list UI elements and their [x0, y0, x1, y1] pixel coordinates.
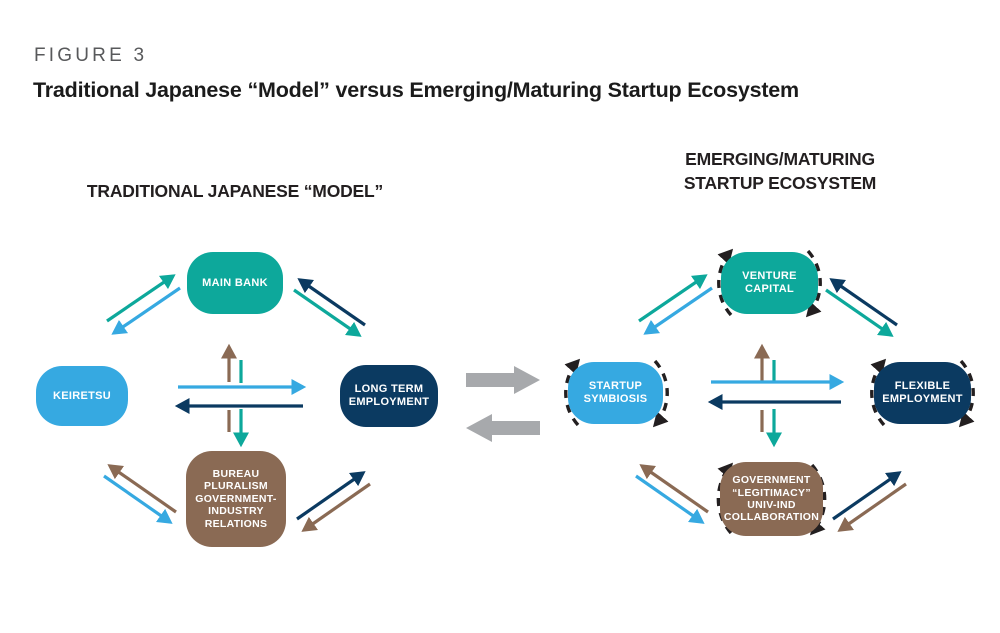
node-venture-capital[interactable]: VENTURECAPITAL [721, 252, 818, 314]
right-center-vertical-up [762, 347, 774, 383]
left-diagonal-bottomright [297, 473, 370, 530]
node-bureau-pluralism[interactable]: BUREAUPLURALISMGOVERNMENT-INDUSTRYRELATI… [186, 451, 286, 547]
right-diagonal-topright [826, 280, 897, 335]
page-title: Traditional Japanese “Model” versus Emer… [33, 78, 799, 103]
left-diagonal-topright [294, 280, 365, 335]
left-center-vertical-down [229, 409, 241, 444]
panel-heading-left: TRADITIONAL JAPANESE “MODEL” [40, 180, 430, 204]
panel-heading-right: EMERGING/MATURINGSTARTUP ECOSYSTEM [620, 148, 940, 195]
right-diagonal-bottomright [833, 473, 906, 530]
node-long-term-employment[interactable]: LONG TERMEMPLOYMENT [340, 365, 438, 427]
figure-canvas: FIGURE 3 Traditional Japanese “Model” ve… [0, 0, 1000, 633]
transition-arrow-forward [466, 366, 540, 394]
left-center-vertical-up [229, 347, 241, 383]
right-diagonal-bottomleft [636, 466, 708, 522]
transition-arrow-return [466, 414, 540, 442]
node-main-bank[interactable]: MAIN BANK [187, 252, 283, 314]
left-diagonal-topleft [107, 276, 180, 333]
right-diagonal-topleft [639, 276, 712, 333]
figure-label: FIGURE 3 [34, 45, 147, 67]
node-startup-symbiosis[interactable]: STARTUPSYMBIOSIS [568, 362, 663, 424]
left-diagonal-bottomleft [104, 466, 176, 522]
node-flexible-employment[interactable]: FLEXIBLEEMPLOYMENT [874, 362, 971, 424]
node-keiretsu[interactable]: KEIRETSU [36, 366, 128, 426]
right-center-vertical-down [762, 409, 774, 444]
node-government-legitimacy[interactable]: GOVERNMENT“LEGITIMACY”UNIV-INDCOLLABORAT… [720, 462, 823, 536]
